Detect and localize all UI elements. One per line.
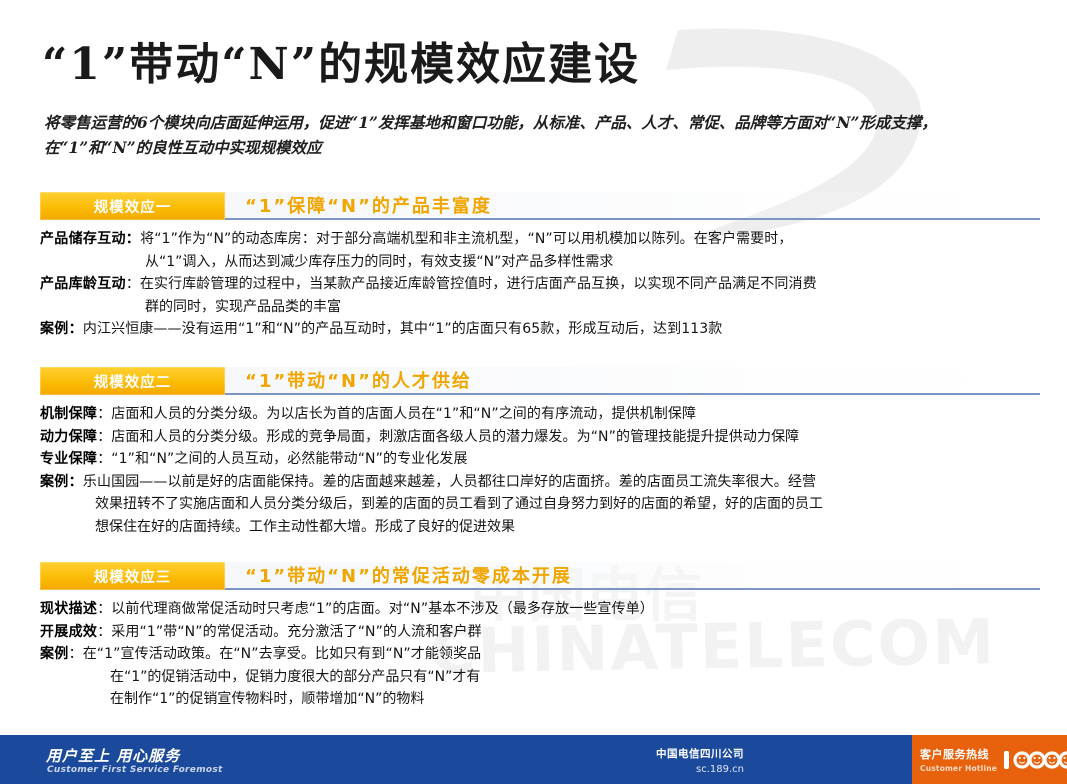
footer-corp-url: sc.189.cn bbox=[656, 764, 744, 775]
footer-hotline-en: Customer Hotline bbox=[920, 764, 997, 773]
section-3-title-wrap: “1”带动“N”的常促活动零成本开展 bbox=[225, 562, 1040, 590]
hotline-number-logo-icon bbox=[1003, 748, 1067, 772]
footer-hotline-block: 客户服务热线 Customer Hotline bbox=[912, 735, 1067, 784]
section-3-header: 规模效应三 “1”带动“N”的常促活动零成本开展 bbox=[40, 562, 1040, 590]
footer-hotline-text: 客户服务热线 Customer Hotline bbox=[920, 746, 997, 773]
row-text: 乐山国园——以前是好的店面能保持。差的店面越来越差，人员都往口岸好的店面挤。差的… bbox=[83, 471, 1040, 494]
row-label: 产品库龄互动 bbox=[40, 273, 126, 296]
footer-corp: 中国电信四川公司 sc.189.cn bbox=[656, 746, 744, 775]
section-2-title-wrap: “1”带动“N”的人才供给 bbox=[225, 367, 1040, 395]
slide-footer: 用户至上 用心服务 Customer First Service Foremos… bbox=[0, 735, 1067, 784]
list-item: 动力保障 ：店面和人员的分类分级。形成的竞争局面，刺激店面各级人员的潜力爆发。为… bbox=[40, 426, 1040, 449]
row-text: ：在“1”宣传活动政策。在“N”去享受。比如只有到“N”才能领奖品 bbox=[69, 643, 1040, 666]
list-item: 案例 ：在“1”宣传活动政策。在“N”去享受。比如只有到“N”才能领奖品 bbox=[40, 643, 1040, 666]
list-item: 案例： 内江兴恒康——没有运用“1”和“N”的产品互动时，其中“1”的店面只有6… bbox=[40, 318, 1040, 341]
section-1: 规模效应一 “1”保障“N”的产品丰富度 产品储存互动： 将“1”作为“N”的动… bbox=[40, 192, 1040, 341]
row-label: 动力保障 bbox=[40, 426, 97, 449]
row-text: ：以前代理商做常促活动时只考虑“1”的店面。对“N”基本不涉及（最多存放一些宣传… bbox=[97, 598, 1040, 621]
section-2-title: “1”带动“N”的人才供给 bbox=[245, 367, 472, 393]
row-label: 案例： bbox=[40, 318, 83, 341]
row-continuation: 从“1”调入，从而达到减少库存压力的同时，有效支援“N”对产品多样性需求 bbox=[40, 251, 1040, 274]
row-label: 产品储存互动： bbox=[40, 228, 140, 251]
section-1-header: 规模效应一 “1”保障“N”的产品丰富度 bbox=[40, 192, 1040, 220]
section-3: 规模效应三 “1”带动“N”的常促活动零成本开展 现状描述 ：以前代理商做常促活… bbox=[40, 562, 1040, 711]
list-item: 现状描述 ：以前代理商做常促活动时只考虑“1”的店面。对“N”基本不涉及（最多存… bbox=[40, 598, 1040, 621]
footer-blue-bar: 用户至上 用心服务 Customer First Service Foremos… bbox=[0, 735, 912, 784]
list-item: 案例： 乐山国园——以前是好的店面能保持。差的店面越来越差，人员都往口岸好的店面… bbox=[40, 471, 1040, 494]
presentation-slide: 中国电信 CHINATELECOM “1”带动“N”的规模效应建设 将零售运营的… bbox=[0, 0, 1067, 784]
footer-hotline-cn: 客户服务热线 bbox=[920, 746, 997, 762]
row-label: 专业保障 bbox=[40, 448, 97, 471]
row-continuation: 在“1”的促销活动中，促销力度很大的部分产品只有“N”才有 bbox=[40, 666, 1040, 689]
row-label: 案例 bbox=[40, 643, 69, 666]
row-continuation: 想保住在好的店面持续。工作主动性都大增。形成了良好的促进效果 bbox=[40, 516, 1040, 539]
row-text: ：店面和人员的分类分级。为以店长为首的店面人员在“1”和“N”之间的有序流动，提… bbox=[97, 403, 1040, 426]
row-text: ：“1”和“N”之间的人员互动，必然能带动“N”的专业化发展 bbox=[97, 448, 1040, 471]
row-continuation: 效果扭转不了实施店面和人员分类分级后，到差的店面的员工看到了通过自身努力到好的店… bbox=[40, 493, 1040, 516]
footer-corp-name: 中国电信四川公司 bbox=[656, 746, 744, 761]
row-text: ：店面和人员的分类分级。形成的竞争局面，刺激店面各级人员的潜力爆发。为“N”的管… bbox=[97, 426, 1040, 449]
row-label: 现状描述 bbox=[40, 598, 97, 621]
row-continuation: 在制作“1”的促销宣传物料时，顺带增加“N”的物料 bbox=[40, 688, 1040, 711]
section-2-header: 规模效应二 “1”带动“N”的人才供给 bbox=[40, 367, 1040, 395]
section-1-title: “1”保障“N”的产品丰富度 bbox=[245, 192, 492, 218]
row-label: 案例： bbox=[40, 471, 83, 494]
section-3-title: “1”带动“N”的常促活动零成本开展 bbox=[245, 562, 572, 588]
footer-slogan-en: Customer First Service Foremost bbox=[47, 765, 223, 775]
list-item: 产品储存互动： 将“1”作为“N”的动态库房：对于部分高端机型和非主流机型，“N… bbox=[40, 228, 1040, 251]
row-text: 将“1”作为“N”的动态库房：对于部分高端机型和非主流机型，“N”可以用机模加以… bbox=[140, 228, 1040, 251]
page-subtitle: 将零售运营的6个模块向店面延伸运用，促进“1”发挥基地和窗口功能，从标准、产品、… bbox=[44, 110, 1034, 160]
section-3-badge: 规模效应三 bbox=[40, 562, 225, 590]
section-2-badge: 规模效应二 bbox=[40, 367, 225, 395]
list-item: 开展成效 ：采用“1”带“N”的常促活动。充分激活了“N”的人流和客户群 bbox=[40, 621, 1040, 644]
section-3-body: 现状描述 ：以前代理商做常促活动时只考虑“1”的店面。对“N”基本不涉及（最多存… bbox=[40, 598, 1040, 711]
row-label: 开展成效 bbox=[40, 621, 97, 644]
row-text: ：采用“1”带“N”的常促活动。充分激活了“N”的人流和客户群 bbox=[97, 621, 1040, 644]
section-1-badge: 规模效应一 bbox=[40, 192, 225, 220]
row-text: 内江兴恒康——没有运用“1”和“N”的产品互动时，其中“1”的店面只有65款，形… bbox=[83, 318, 1040, 341]
section-2: 规模效应二 “1”带动“N”的人才供给 机制保障 ：店面和人员的分类分级。为以店… bbox=[40, 367, 1040, 538]
list-item: 产品库龄互动 ：在实行库龄管理的过程中，当某款产品接近库龄管控值时，进行店面产品… bbox=[40, 273, 1040, 296]
page-title: “1”带动“N”的规模效应建设 bbox=[42, 28, 640, 92]
footer-slogan-cn: 用户至上 用心服务 bbox=[46, 745, 180, 766]
section-1-body: 产品储存互动： 将“1”作为“N”的动态库房：对于部分高端机型和非主流机型，“N… bbox=[40, 228, 1040, 341]
list-item: 机制保障 ：店面和人员的分类分级。为以店长为首的店面人员在“1”和“N”之间的有… bbox=[40, 403, 1040, 426]
section-2-body: 机制保障 ：店面和人员的分类分级。为以店长为首的店面人员在“1”和“N”之间的有… bbox=[40, 403, 1040, 538]
list-item: 专业保障 ：“1”和“N”之间的人员互动，必然能带动“N”的专业化发展 bbox=[40, 448, 1040, 471]
section-1-title-wrap: “1”保障“N”的产品丰富度 bbox=[225, 192, 1040, 220]
row-continuation: 群的同时，实现产品品类的丰富 bbox=[40, 296, 1040, 319]
row-text: ：在实行库龄管理的过程中，当某款产品接近库龄管控值时，进行店面产品互换，以实现不… bbox=[126, 273, 1040, 296]
row-label: 机制保障 bbox=[40, 403, 97, 426]
